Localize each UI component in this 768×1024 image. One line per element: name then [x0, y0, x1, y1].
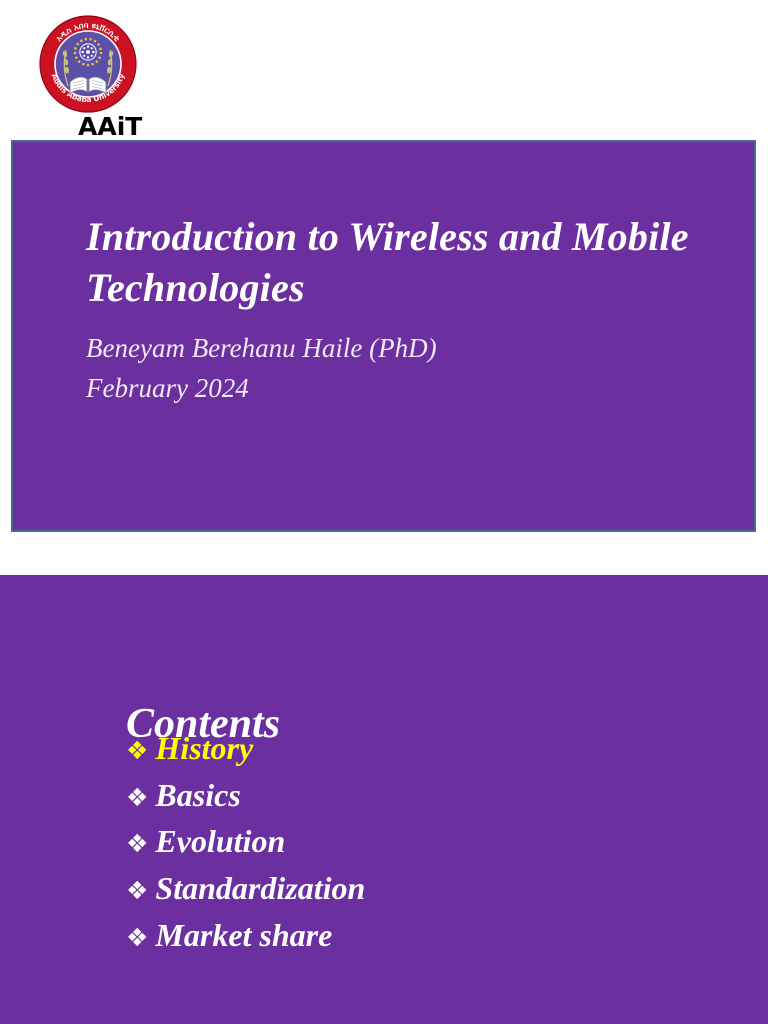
contents-list: ❖ History ❖ Basics ❖ Evolution ❖ Standar…: [126, 725, 726, 959]
list-item-evolution[interactable]: ❖ Evolution: [126, 818, 726, 865]
aait-abbreviation-label: AAiT: [78, 114, 142, 139]
university-logo-block: አዲስ አበባ ዩኒቨርሲቲ Addis Ababa University: [33, 10, 153, 135]
list-item-standardization[interactable]: ❖ Standardization: [126, 865, 726, 912]
presenter-name: Beneyam Berehanu Haile (PhD): [86, 329, 706, 369]
presentation-date: February 2024: [86, 369, 706, 409]
diamond-bullet-icon: ❖: [126, 831, 148, 856]
list-item-label: Standardization: [155, 865, 365, 912]
title-slide: አዲስ አበባ ዩኒቨርሲቲ Addis Ababa University: [0, 0, 768, 560]
list-item-history[interactable]: ❖ History: [126, 725, 726, 772]
title-slide-byline: Beneyam Berehanu Haile (PhD) February 20…: [86, 329, 706, 408]
contents-slide: Contents ❖ History ❖ Basics ❖ Evolution …: [0, 575, 768, 1024]
list-item-label: Evolution: [155, 818, 285, 865]
list-item-label: Basics: [155, 772, 240, 819]
page-title: Introduction to Wireless and Mobile Tech…: [86, 211, 706, 313]
list-item-label: Market share: [155, 912, 332, 959]
addis-ababa-university-seal-icon: አዲስ አበባ ዩኒቨርሲቲ Addis Ababa University: [38, 14, 138, 114]
diamond-bullet-icon: ❖: [126, 738, 148, 763]
diamond-bullet-icon: ❖: [126, 925, 148, 950]
list-item-label: History: [155, 725, 253, 772]
title-slide-panel: Introduction to Wireless and Mobile Tech…: [11, 140, 756, 532]
list-item-market-share[interactable]: ❖ Market share: [126, 912, 726, 959]
diamond-bullet-icon: ❖: [126, 878, 148, 903]
diamond-bullet-icon: ❖: [126, 785, 148, 810]
list-item-basics[interactable]: ❖ Basics: [126, 772, 726, 819]
